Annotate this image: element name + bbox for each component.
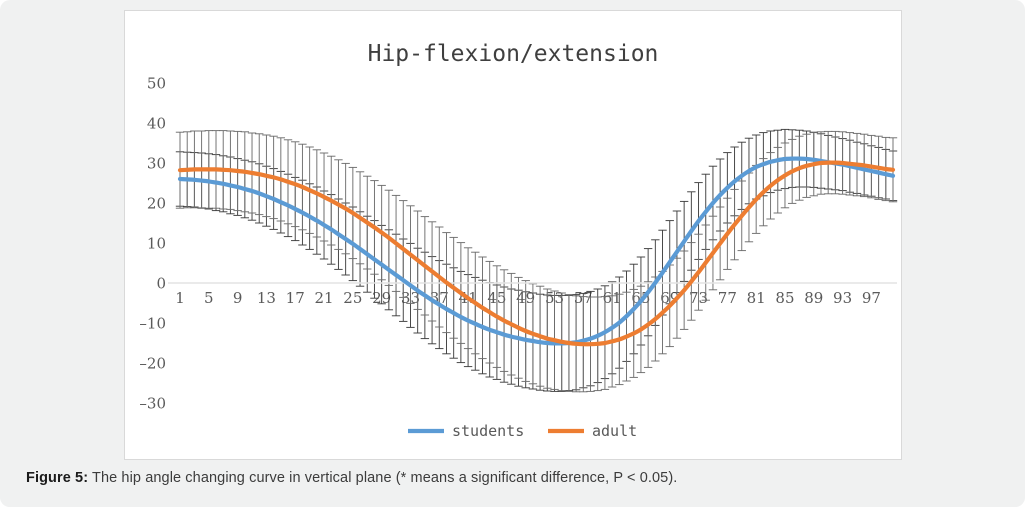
x-tick-21: 21 [314, 289, 333, 307]
figure-page: Hip-flexion/extension 50403020100–10–20–… [0, 0, 1025, 507]
figure-caption-text: The hip angle changing curve in vertical… [88, 470, 677, 486]
y-tick-50: 50 [147, 75, 166, 93]
x-tick-9: 9 [233, 289, 243, 307]
y-axis-tick-labels: 50403020100–10–20–30 [139, 75, 166, 413]
error-bars [176, 129, 897, 391]
x-tick-25: 25 [343, 289, 362, 307]
legend-item-students[interactable]: students [408, 422, 524, 440]
y-tick-10: 10 [147, 235, 166, 253]
legend-label-adult: adult [592, 422, 637, 440]
y-tick-40: 40 [147, 115, 166, 133]
chart-legend: studentsadult [408, 422, 637, 440]
chart-title: Hip-flexion/extension [368, 41, 659, 67]
x-tick-93: 93 [833, 289, 852, 307]
series-lines [180, 159, 893, 345]
figure-caption-label: Figure 5: [26, 470, 88, 486]
y-tick--30: –30 [139, 395, 166, 413]
figure-caption: Figure 5: The hip angle changing curve i… [26, 470, 1006, 486]
chart-frame: Hip-flexion/extension 50403020100–10–20–… [124, 10, 902, 460]
series-line-students [180, 159, 893, 344]
hip-flexion-extension-chart: Hip-flexion/extension 50403020100–10–20–… [125, 11, 901, 459]
y-tick-20: 20 [147, 195, 166, 213]
x-tick-5: 5 [204, 289, 214, 307]
series-line-adult [180, 163, 893, 345]
x-tick-89: 89 [804, 289, 823, 307]
x-tick-77: 77 [718, 289, 737, 307]
x-tick-1: 1 [175, 289, 185, 307]
y-tick-0: 0 [156, 275, 166, 293]
y-tick--10: –10 [139, 315, 166, 333]
y-tick--20: –20 [139, 355, 166, 373]
x-tick-97: 97 [862, 289, 881, 307]
x-tick-81: 81 [747, 289, 766, 307]
x-tick-17: 17 [286, 289, 305, 307]
x-tick-85: 85 [775, 289, 794, 307]
x-tick-13: 13 [257, 289, 276, 307]
y-tick-30: 30 [147, 155, 166, 173]
legend-label-students: students [452, 422, 524, 440]
legend-item-adult[interactable]: adult [548, 422, 637, 440]
